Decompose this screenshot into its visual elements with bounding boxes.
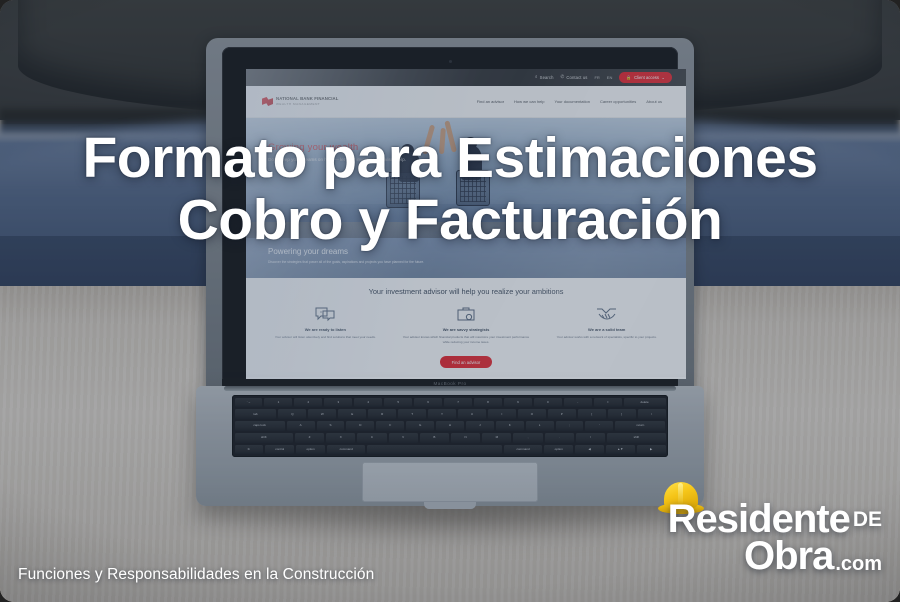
logo-word-obra: Obra (744, 534, 833, 578)
logo-line-1: ResidenteDE (668, 500, 882, 538)
promo-graphic: ⌕ Search ✆ Contact us FR EN 🔒 C (0, 0, 900, 602)
title-line-1: Formato para Estimaciones (82, 126, 817, 190)
footer-caption: Funciones y Responsabilidades en la Cons… (18, 566, 374, 584)
logo-word-de: DE (853, 508, 882, 531)
page-title: Formato para Estimaciones Cobro y Factur… (0, 128, 900, 251)
site-watermark-logo: ResidenteDE Obra.com (668, 500, 882, 576)
logo-tld: .com (835, 553, 882, 575)
logo-line-2: Obra.com (668, 536, 882, 576)
title-line-2: Cobro y Facturación (0, 190, 900, 252)
